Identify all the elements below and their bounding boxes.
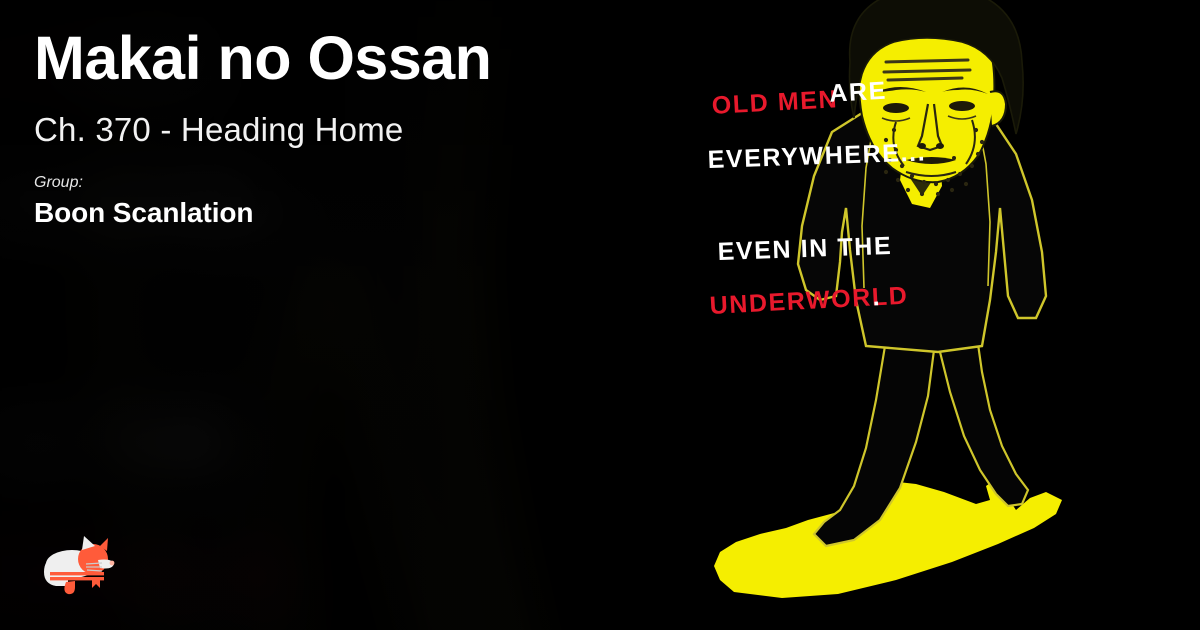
cat-logo-icon [38, 534, 122, 598]
cover-artwork: OLD MEN ARE EVERYWHERE... EVEN IN THE UN… [690, 0, 1200, 630]
speech-period: . [872, 283, 882, 311]
group-name: Boon Scanlation [34, 198, 654, 229]
speech-are: ARE [829, 77, 888, 108]
cover-panel: OLD MEN ARE EVERYWHERE... EVEN IN THE UN… [690, 0, 1200, 630]
group-label: Group: [34, 174, 654, 192]
chapter-meta: Makai no Ossan Ch. 370 - Heading Home Gr… [34, 26, 654, 229]
chapter-title: Ch. 370 - Heading Home [34, 112, 654, 148]
series-title: Makai no Ossan [34, 26, 654, 90]
chapter-banner: OLD MEN ARE EVERYWHERE... EVEN IN THE UN… [0, 0, 1200, 630]
mangadex-logo [38, 534, 122, 598]
